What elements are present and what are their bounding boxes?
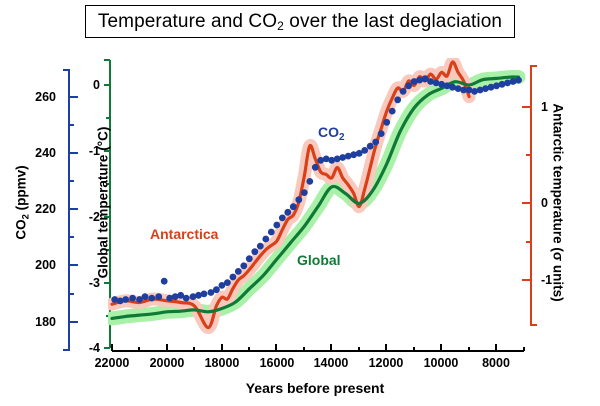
co2-tick-label: 240: [22, 146, 56, 160]
antarctic-temp-tick-label: -1: [541, 273, 563, 287]
co2-axis-title-main: CO: [14, 219, 29, 239]
chart-title-box: Temperature and CO2 over the last deglac…: [85, 5, 515, 38]
co2-axis: [63, 70, 78, 350]
x-tick-label: 10000: [413, 356, 469, 370]
x-tick-label: 12000: [358, 356, 414, 370]
x-tick-label: 20000: [139, 356, 195, 370]
antarctic-temp-tick-label: 1: [541, 100, 563, 114]
global-temp-tick-label: -2: [78, 210, 100, 224]
chart-figure: Temperature and CO2 over the last deglac…: [0, 0, 600, 406]
antarctic-temp-tick-label: 0: [541, 196, 563, 210]
co2-series-label-sub: 2: [339, 132, 345, 143]
co2-tick-label: 200: [22, 258, 56, 272]
title-subscript: 2: [277, 19, 284, 33]
co2-scatter-points: [111, 75, 522, 304]
antarctica-series-label: Antarctica: [150, 226, 218, 242]
global-uncertainty-band: [112, 77, 519, 318]
x-tick-label: 14000: [303, 356, 359, 370]
co2-tick-label: 220: [22, 202, 56, 216]
title-text-before: Temperature and CO: [98, 11, 277, 32]
x-tick-label: 16000: [249, 356, 305, 370]
antarctic-temperature-axis: [522, 66, 537, 325]
co2-tick-label: 260: [22, 90, 56, 104]
global-temp-tick-label: -3: [78, 276, 100, 290]
global-temp-tick-label: -4: [78, 341, 100, 355]
x-tick-label: 18000: [194, 356, 250, 370]
x-axis: [112, 344, 524, 351]
x-tick-label: 8000: [468, 356, 524, 370]
global-line: [112, 77, 519, 318]
x-tick-label: 22000: [84, 356, 140, 370]
co2-series-label: CO2: [318, 124, 345, 140]
title-text-after: over the last deglaciation: [284, 11, 502, 32]
co2-tick-label: 180: [22, 315, 56, 329]
x-axis-title: Years before present: [180, 380, 450, 396]
global-series-label: Global: [297, 252, 341, 268]
co2-series-label-text: CO: [318, 124, 339, 140]
global-temp-tick-label: 0: [78, 78, 100, 92]
global-temp-tick-label: -1: [78, 144, 100, 158]
page-title: Temperature and CO2 over the last deglac…: [98, 11, 502, 33]
